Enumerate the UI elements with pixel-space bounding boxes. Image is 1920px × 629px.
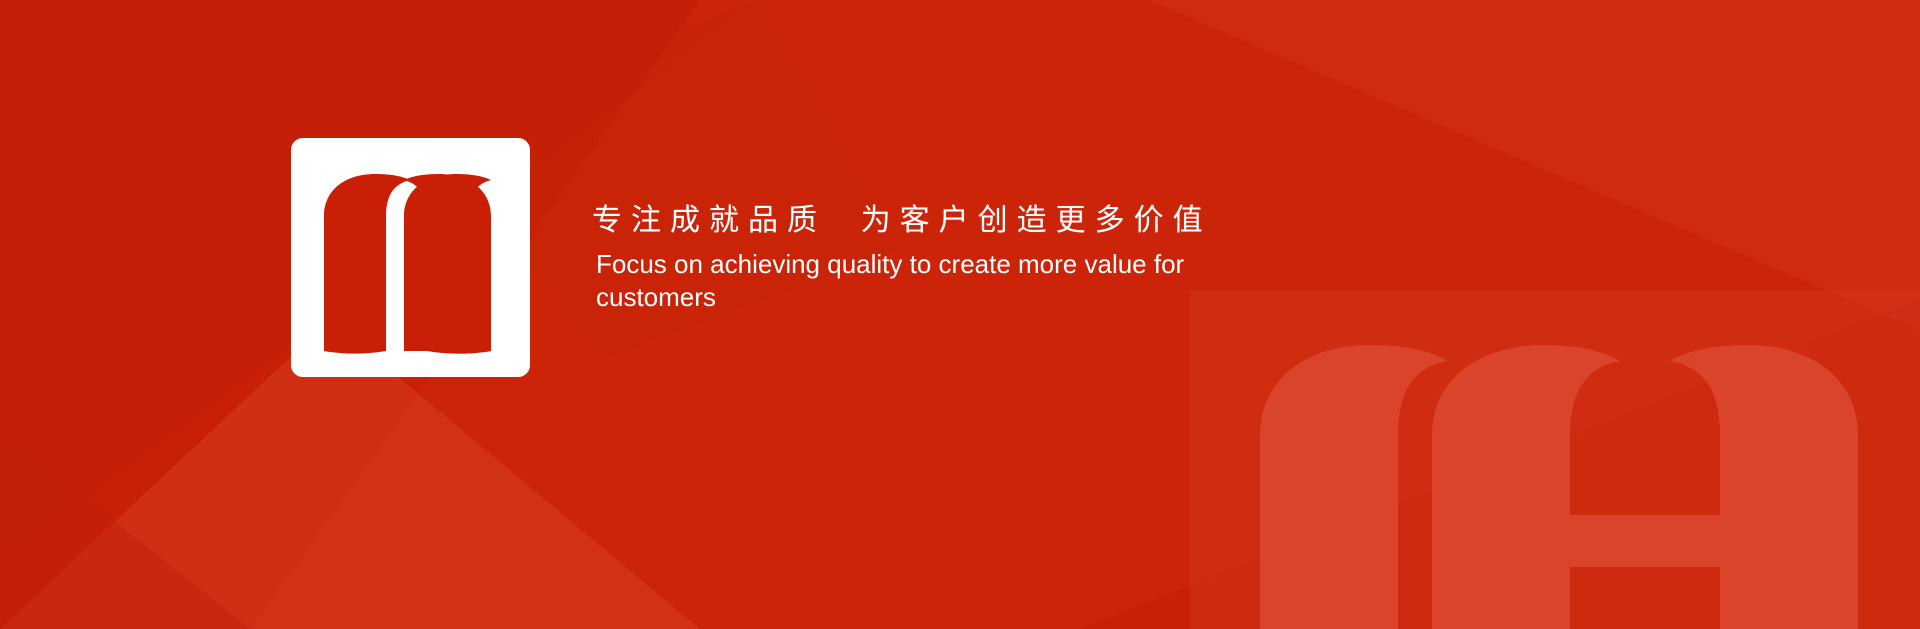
banner-text-block: 专注成就品质 为客户创造更多价值 Focus on achieving qual… xyxy=(592,203,1292,314)
hero-banner: 专注成就品质 为客户创造更多价值 Focus on achieving qual… xyxy=(0,0,1920,629)
headline-chinese: 专注成就品质 为客户创造更多价值 xyxy=(592,203,1292,240)
company-logo xyxy=(291,138,530,377)
headline-english: Focus on achieving quality to create mor… xyxy=(592,248,1232,315)
background-facets xyxy=(0,0,1920,629)
